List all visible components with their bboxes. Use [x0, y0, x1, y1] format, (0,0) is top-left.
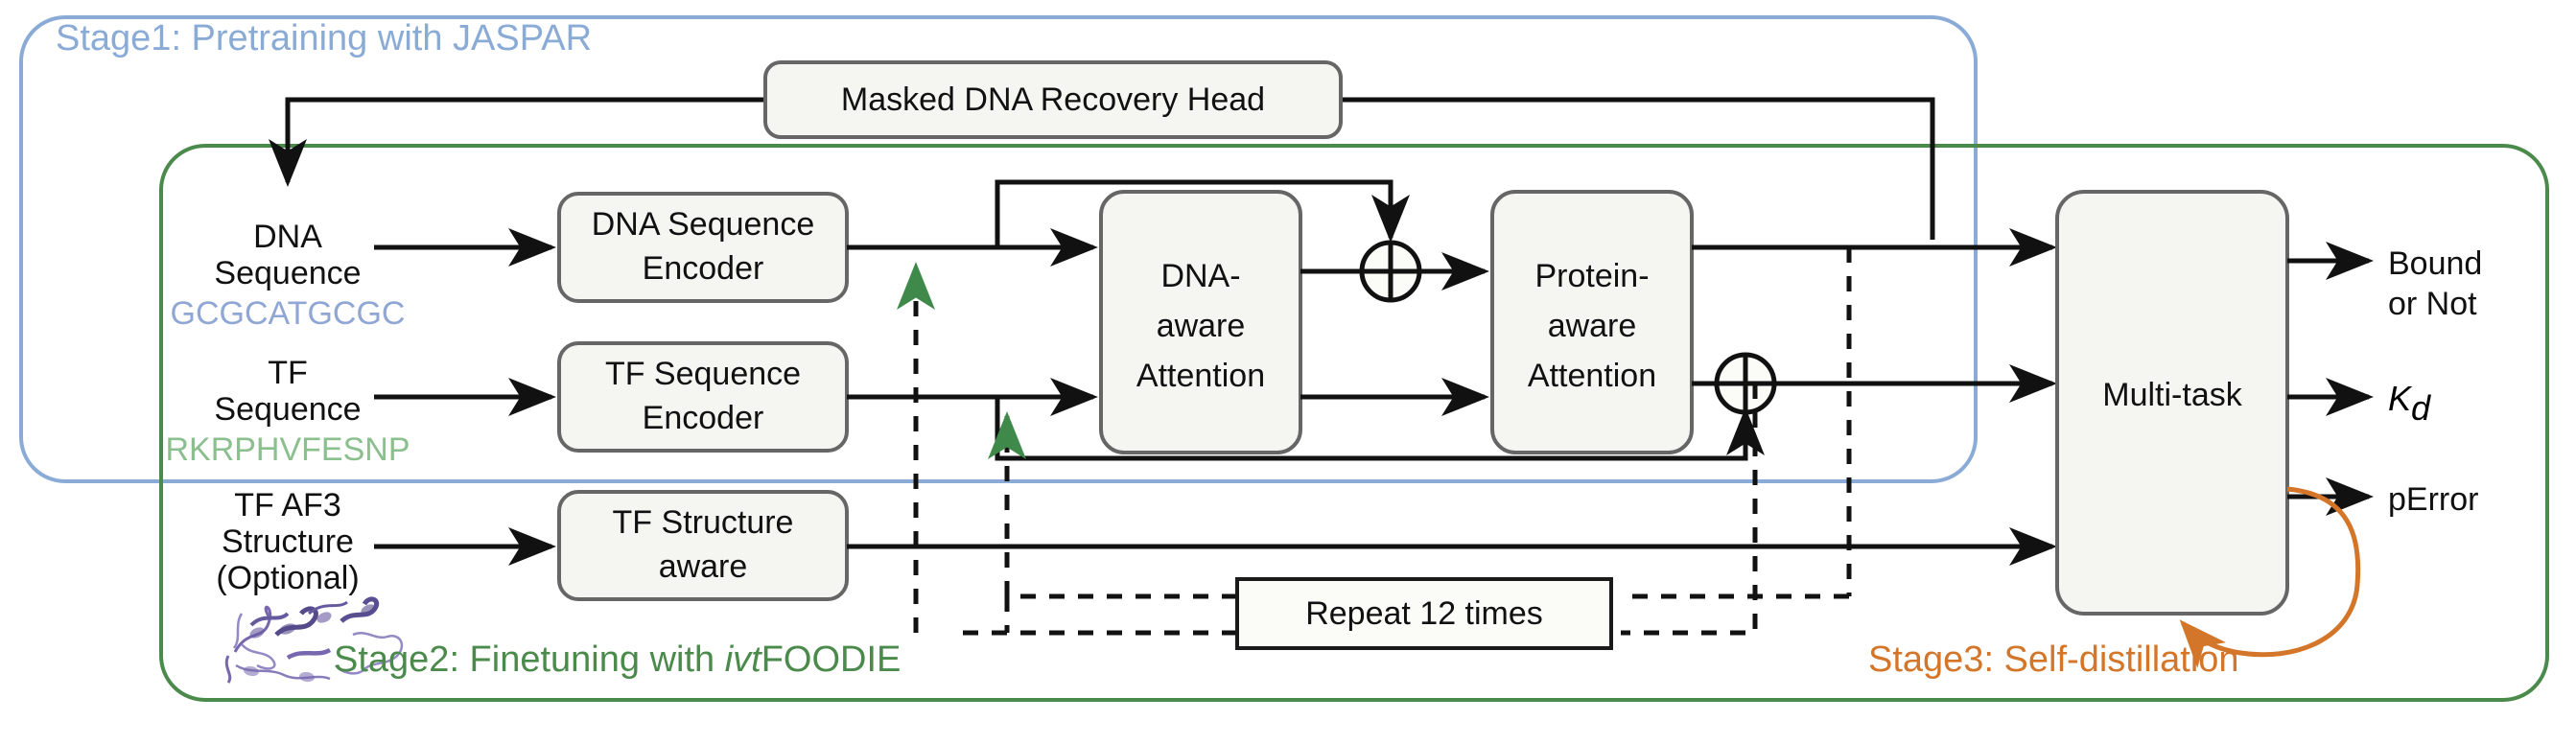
dash-repeat-out-lower — [1007, 596, 1237, 633]
output-bound-line2: or Not — [2388, 286, 2477, 322]
input-dna-line1: DNA — [253, 219, 322, 255]
tf-encoder-line2: Encoder — [643, 400, 764, 436]
struct-encoder-line2: aware — [659, 548, 748, 585]
stage2-label: Stage2: Finetuning with ivtFOODIE — [334, 639, 901, 680]
masked-head-label: Masked DNA Recovery Head — [841, 81, 1265, 118]
struct-encoder-line1: TF Structure — [613, 504, 794, 541]
input-dna-line2: Sequence — [214, 255, 361, 291]
dna-encoder-line2: Encoder — [643, 250, 764, 287]
protein-attention-line1: Protein- — [1534, 258, 1649, 294]
dna-attention-line2: aware — [1157, 308, 1246, 344]
input-struct-line2: Structure — [222, 523, 354, 560]
multitask-label: Multi-task — [2102, 377, 2242, 413]
repeat-label: Repeat 12 times — [1305, 595, 1543, 632]
stage1-label: Stage1: Pretraining with JASPAR — [56, 18, 592, 58]
input-struct-line3: (Optional) — [216, 560, 359, 596]
input-struct-line1: TF AF3 — [234, 487, 340, 523]
output-kd: Kd — [2388, 379, 2431, 428]
dna-attention-line1: DNA- — [1160, 258, 1240, 294]
output-kd-symbol: K — [2388, 379, 2413, 418]
architecture-diagram: Masked DNA Recovery Head DNA Sequence GC… — [0, 0, 2576, 744]
output-perror: pError — [2388, 481, 2478, 518]
stage3-label: Stage3: Self-distillation — [1868, 639, 2239, 680]
stage2-label-italic: ivt — [725, 639, 762, 680]
dna-encoder-line1: DNA Sequence — [592, 206, 815, 243]
diagram-canvas: Masked DNA Recovery Head DNA Sequence GC… — [0, 0, 2576, 744]
input-tf-sequence: RKRPHVFESNP — [165, 431, 410, 468]
residual-add-2-icon — [1717, 355, 1774, 412]
masked-head-left-wire — [288, 100, 765, 182]
input-tf-line1: TF — [268, 355, 308, 391]
protein-attention-line3: Attention — [1528, 358, 1656, 394]
tf-encoder-line1: TF Sequence — [605, 356, 801, 392]
output-kd-subscript: d — [2411, 388, 2431, 428]
stage2-label-prefix: Stage2: Finetuning with — [334, 639, 725, 680]
output-bound-line1: Bound — [2388, 245, 2482, 282]
residual-add-1-icon — [1362, 243, 1419, 300]
input-tf-line2: Sequence — [214, 391, 361, 428]
protein-attention-line2: aware — [1548, 308, 1637, 344]
stage2-label-suffix: FOODIE — [761, 639, 902, 680]
dna-attention-line3: Attention — [1136, 358, 1265, 394]
input-dna-sequence: GCGCATGCGC — [171, 295, 406, 332]
